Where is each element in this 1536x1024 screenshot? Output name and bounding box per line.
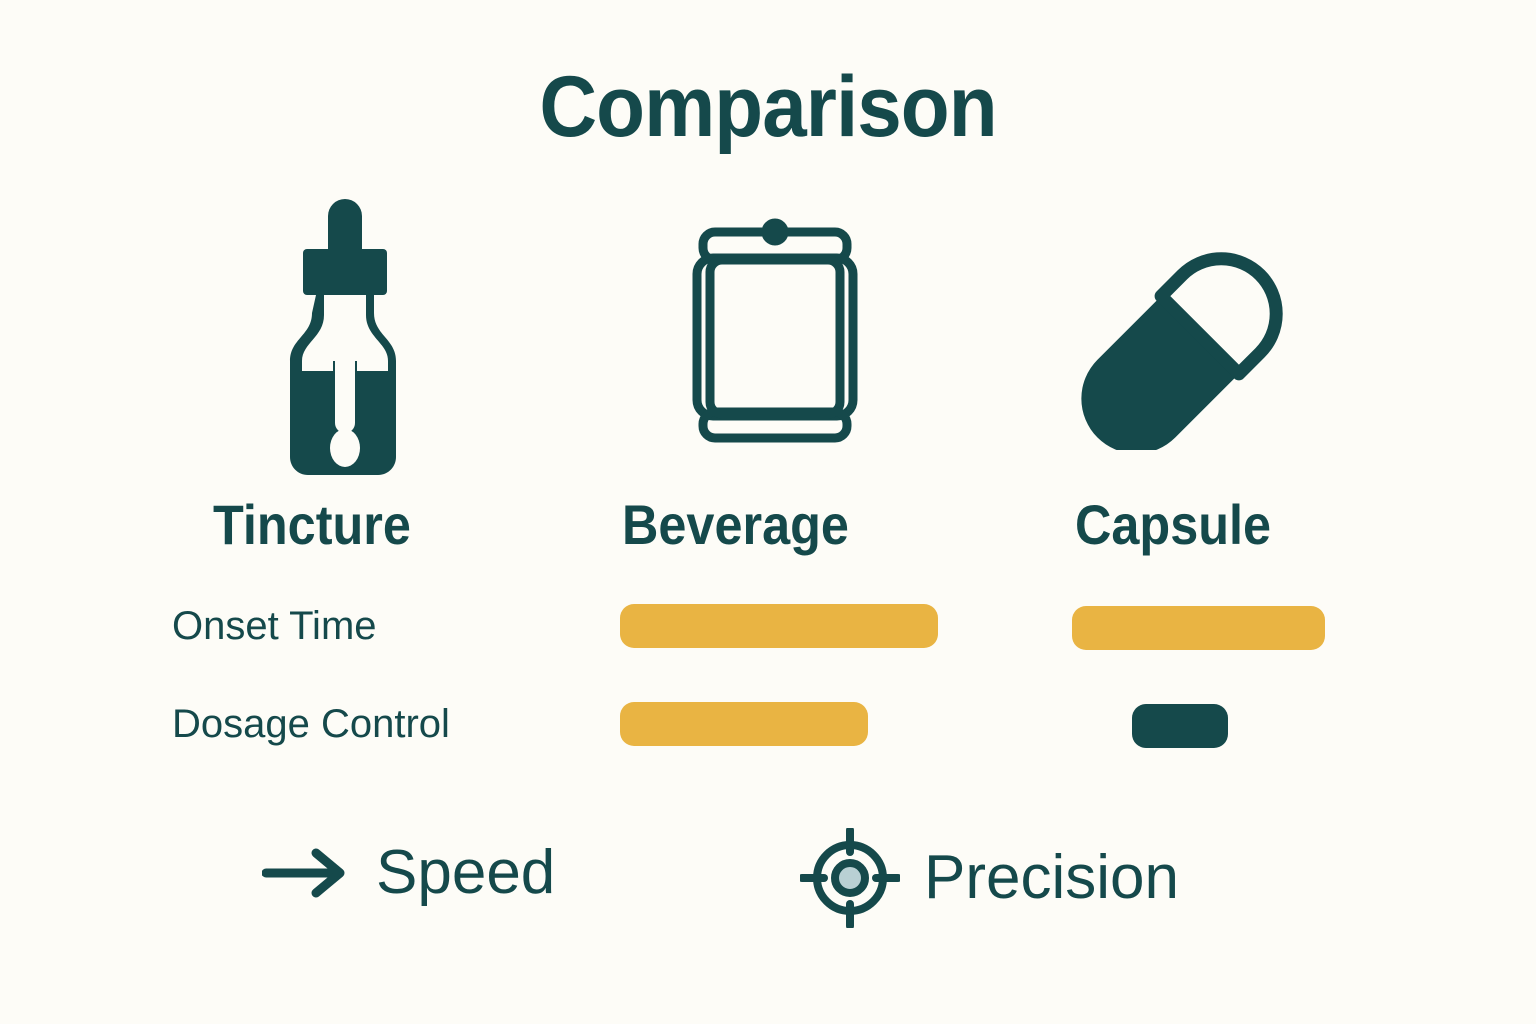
tincture-dropper-bottle-icon (185, 190, 505, 480)
beverage-can-icon (615, 190, 935, 480)
bar-dosage-control-capsule (1132, 704, 1228, 748)
product-column-capsule (1040, 190, 1360, 490)
product-label-tincture: Tincture (213, 497, 411, 553)
bar-onset-time-beverage (620, 604, 938, 648)
page-title: Comparison (54, 64, 1482, 150)
infographic-canvas: Comparison (0, 0, 1536, 1024)
legend-label-precision: Precision (924, 847, 1179, 909)
product-label-beverage: Beverage (622, 497, 849, 553)
arrow-right-icon (262, 838, 350, 908)
capsule-pill-icon (1040, 190, 1360, 480)
target-crosshair-icon (800, 832, 900, 924)
product-column-beverage (615, 190, 935, 490)
product-label-capsule: Capsule (1075, 497, 1271, 553)
bar-onset-time-capsule (1072, 606, 1325, 650)
legend-item-precision: Precision (800, 832, 1179, 924)
legend-label-speed: Speed (376, 842, 555, 904)
metric-label-onset-time: Onset Time (172, 606, 377, 646)
legend-item-speed: Speed (262, 838, 555, 908)
metric-label-dosage-control: Dosage Control (172, 704, 450, 744)
product-column-tincture (185, 190, 505, 490)
bar-dosage-control-beverage (620, 702, 868, 746)
